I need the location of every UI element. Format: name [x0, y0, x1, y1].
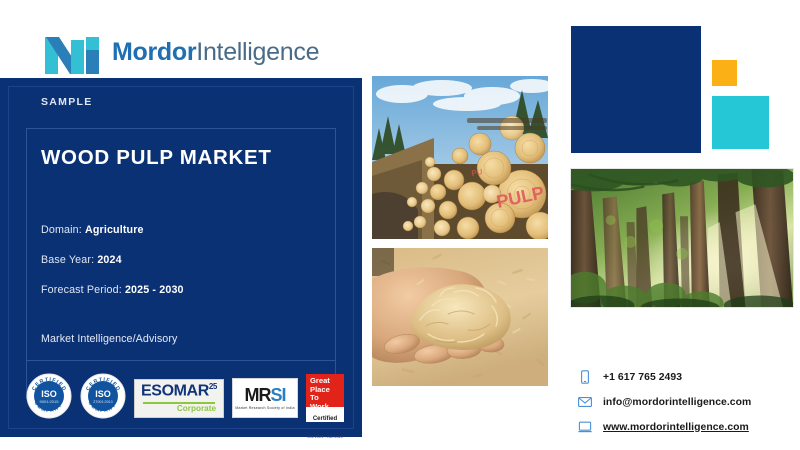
gptw-period-label: JUL 2024 - JUL 2025 [307, 435, 343, 439]
iso-certified-company-badge: CERTIFIED COMPANY ISO 9001:2015 [26, 373, 72, 424]
esomar-text: ESOMAR [141, 383, 209, 400]
contact-row-email[interactable]: info@mordorintelligence.com [578, 395, 751, 409]
great-place-to-work-badge: Great Place To Work. Certified JUL 2024 … [306, 374, 344, 422]
meta-value-domain: Agriculture [85, 224, 144, 236]
mordor-m-logo-icon [45, 30, 103, 74]
iso-center-text: ISO [95, 389, 111, 399]
meta-label-forecast-period: Forecast Period: [41, 284, 122, 296]
sample-label: SAMPLE [41, 96, 93, 108]
page-title: WOOD PULP MARKET [41, 146, 331, 171]
website-url[interactable]: www.mordorintelligence.com [603, 422, 749, 433]
iso-code-text: 27001:2013 [93, 400, 112, 404]
esomar-badge: ESOMAR25 Corporate [134, 379, 224, 418]
mrsi-subtitle: Market Research Society of India [235, 406, 294, 410]
gptw-certified-block: Certified JUL 2024 - JUL 2025 [306, 407, 344, 422]
iso-center-text: ISO [41, 389, 57, 399]
meta-row-forecast-period: Forecast Period: 2025 - 2030 [41, 284, 321, 296]
meta-row-base-year: Base Year: 2024 [41, 254, 321, 266]
iso-code-text: 9001:2015 [40, 399, 60, 404]
panel-divider [26, 360, 335, 361]
meta-value-base-year: 2024 [97, 254, 121, 266]
stacked-logs-photo: PULP PU [372, 76, 548, 239]
certification-badges: CERTIFIED COMPANY ISO 9001:2015 [26, 372, 344, 424]
redwood-forest-photo [570, 168, 794, 308]
email-address: info@mordorintelligence.com [603, 397, 751, 408]
mrsi-wordmark: MRSI [244, 386, 285, 404]
contact-block: +1 617 765 2493 info@mordorintelligence.… [578, 370, 751, 434]
esomar-wordmark: ESOMAR25 [141, 383, 217, 399]
brand-wordmark: MordorIntelligence [112, 40, 319, 65]
mrsi-mark-dark: MR [244, 385, 270, 405]
report-category: Market Intelligence/Advisory [41, 333, 177, 345]
gptw-red-block: Great Place To Work. [306, 374, 344, 407]
mrsi-badge: MRSI Market Research Society of India [232, 378, 298, 418]
meta-label-domain: Domain: [41, 224, 82, 236]
contact-row-website[interactable]: www.mordorintelligence.com [578, 420, 751, 434]
brand-name-bold: Mordor [112, 38, 196, 66]
orange-color-block [712, 60, 737, 86]
meta-row-domain: Domain: Agriculture [41, 224, 321, 236]
navy-color-block [571, 26, 701, 153]
contact-row-phone[interactable]: +1 617 765 2493 [578, 370, 751, 384]
envelope-icon [578, 395, 592, 409]
meta-label-base-year: Base Year: [41, 254, 94, 266]
report-meta-list: Domain: Agriculture Base Year: 2024 Fore… [41, 224, 321, 314]
cyan-color-block [712, 96, 769, 149]
brand-name-light: Intelligence [196, 38, 319, 66]
monitor-icon [578, 420, 592, 434]
report-cover-page: MordorIntelligence SAMPLE WOOD PULP MARK… [0, 0, 800, 450]
phone-icon [578, 370, 592, 384]
meta-value-forecast-period: 2025 - 2030 [125, 284, 184, 296]
phone-number: +1 617 765 2493 [603, 372, 682, 383]
esomar-corporate-label: Corporate [177, 405, 216, 413]
gptw-certified-label: Certified [313, 416, 337, 422]
mrsi-mark-blue: SI [270, 385, 285, 405]
esomar-sup: 25 [209, 382, 217, 391]
sawdust-in-hand-photo [372, 248, 548, 386]
iso-certified-company-badge: CERTIFIED COMPANY ISO 27001:2013 [80, 373, 126, 424]
brand-logo[interactable]: MordorIntelligence [45, 30, 319, 74]
report-info-panel: SAMPLE WOOD PULP MARKET Domain: Agricult… [0, 78, 362, 437]
